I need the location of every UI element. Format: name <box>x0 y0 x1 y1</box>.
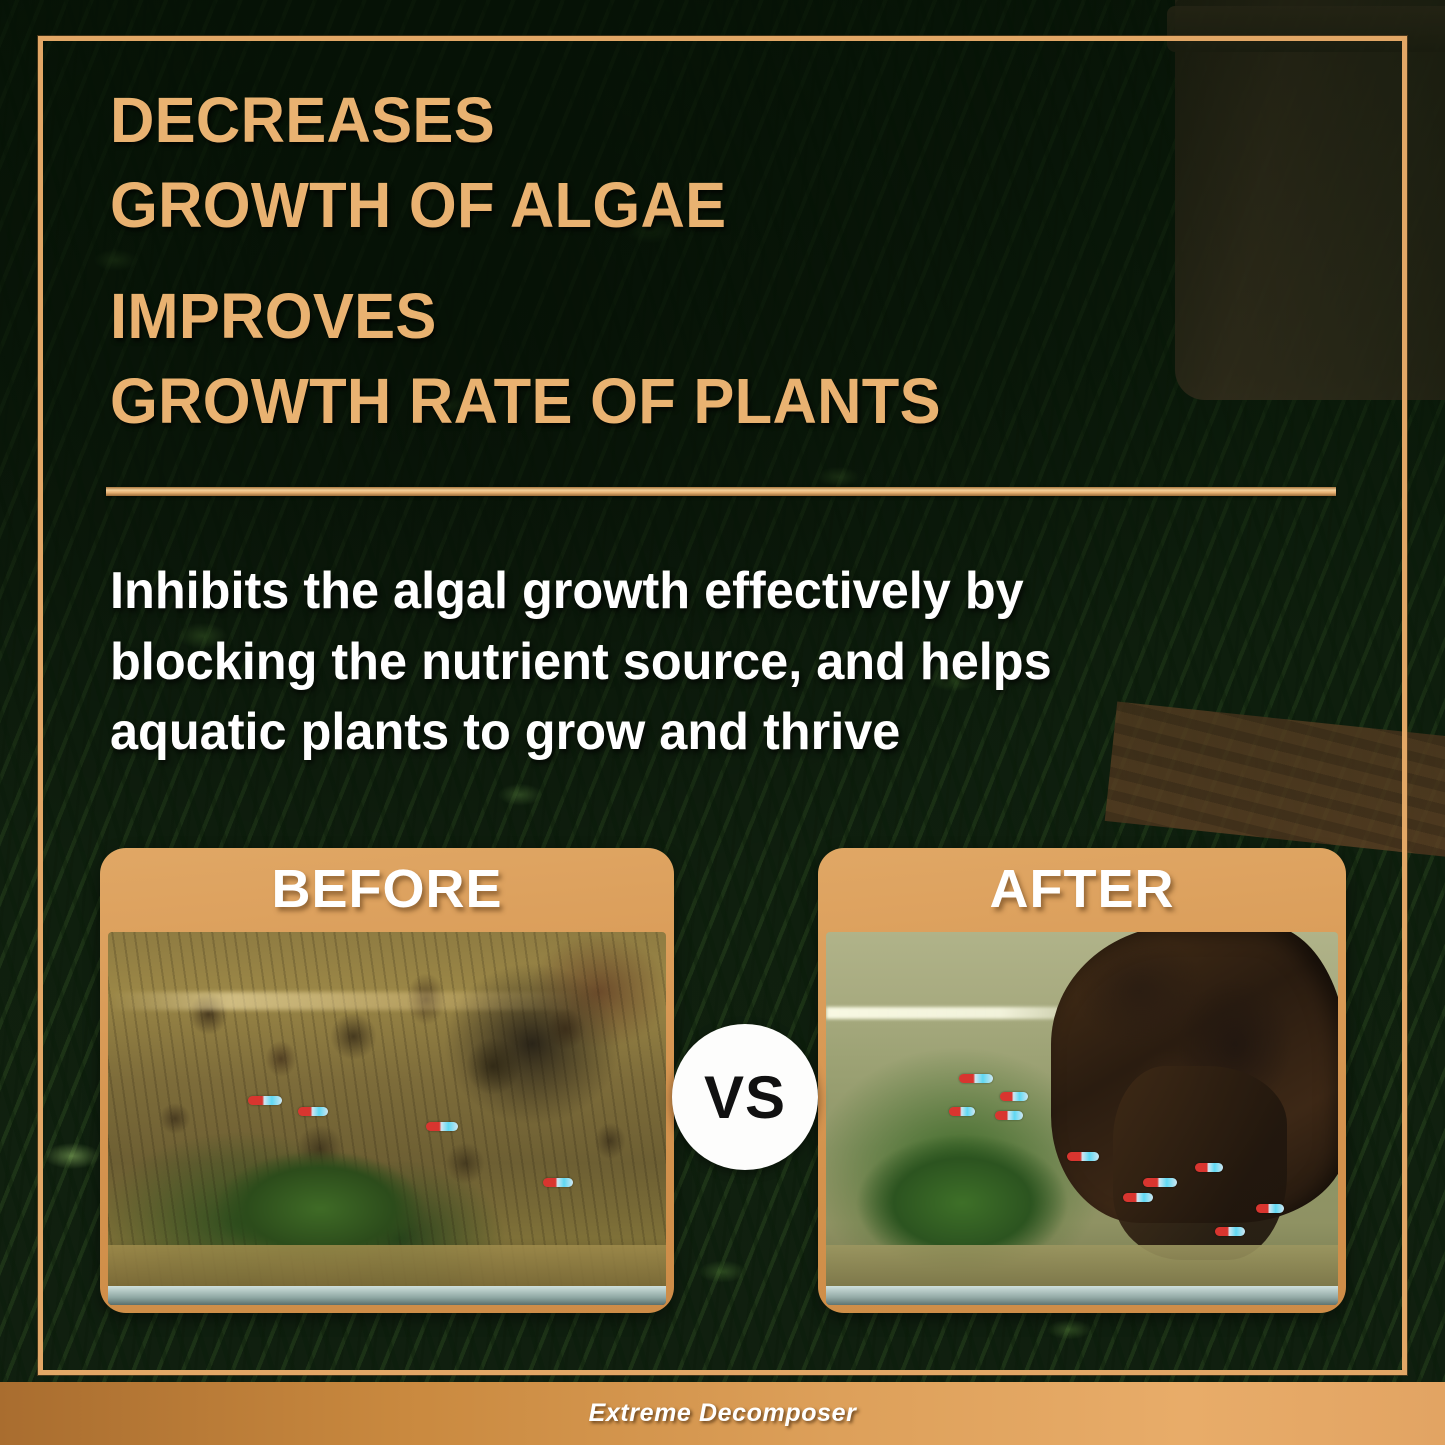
before-panel: BEFORE <box>100 848 674 1313</box>
after-tank-rim <box>826 1286 1338 1305</box>
fish-icon <box>949 1107 975 1116</box>
fish-icon <box>1195 1163 1223 1172</box>
after-aquarium-photo <box>826 932 1338 1305</box>
product-infographic: DECREASES GROWTH OF ALGAE IMPROVES GROWT… <box>0 0 1445 1445</box>
before-aquarium-photo <box>108 932 666 1305</box>
description-paragraph: Inhibits the algal growth effectively by… <box>110 556 1284 768</box>
fish-icon <box>1123 1193 1153 1202</box>
fish-icon <box>995 1111 1023 1120</box>
headline-block: DECREASES GROWTH OF ALGAE IMPROVES GROWT… <box>110 78 1166 444</box>
fish-icon <box>543 1178 573 1187</box>
headline-line-1: DECREASES <box>110 78 1166 163</box>
footer-bar: Extreme Decomposer <box>0 1382 1445 1445</box>
brand-name: Extreme Decomposer <box>589 1399 857 1428</box>
fish-icon <box>1256 1204 1284 1213</box>
headline-benefit-2: IMPROVES GROWTH RATE OF PLANTS <box>110 274 1166 444</box>
before-panel-title: BEFORE <box>100 848 674 930</box>
fish-icon <box>426 1122 458 1131</box>
description-line-2: blocking the nutrient source, and helps <box>110 627 1284 698</box>
before-after-comparison: BEFORE AFTER <box>0 848 1445 1318</box>
fish-icon <box>959 1074 993 1083</box>
after-substrate <box>826 1245 1338 1290</box>
description-line-3: aquatic plants to grow and thrive <box>110 697 1284 768</box>
description-line-1: Inhibits the algal growth effectively by <box>110 556 1284 627</box>
after-panel-title: AFTER <box>818 848 1346 930</box>
fish-icon <box>298 1107 328 1116</box>
after-panel: AFTER <box>818 848 1346 1313</box>
fish-icon <box>1067 1152 1099 1161</box>
before-light-reflection <box>108 992 666 1011</box>
headline-line-2: GROWTH OF ALGAE <box>110 163 1166 248</box>
headline-line-3: IMPROVES <box>110 274 1166 359</box>
headline-benefit-1: DECREASES GROWTH OF ALGAE <box>110 78 1166 248</box>
versus-badge: VS <box>672 1024 818 1170</box>
before-tank-rim <box>108 1286 666 1305</box>
fish-icon <box>1215 1227 1245 1236</box>
before-substrate <box>108 1245 666 1290</box>
fish-icon <box>1000 1092 1028 1101</box>
fish-icon <box>1143 1178 1177 1187</box>
fish-icon <box>248 1096 282 1105</box>
gold-divider-line <box>106 487 1336 496</box>
headline-line-4: GROWTH RATE OF PLANTS <box>110 359 1166 444</box>
